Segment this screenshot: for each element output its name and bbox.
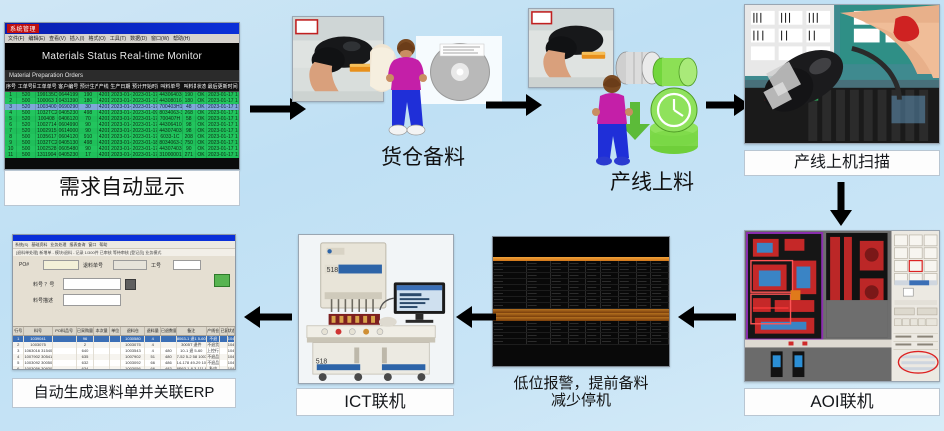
erp-column-header: 状态 bbox=[228, 327, 235, 335]
alert-table-cell: ——— bbox=[527, 321, 551, 326]
alert-table-cell: ——— bbox=[493, 285, 527, 290]
alert-table-body[interactable]: ————————————————————————————————————————… bbox=[493, 257, 669, 345]
erp-column-header: 料号 bbox=[24, 327, 52, 335]
worker-and-disc-art bbox=[370, 28, 502, 140]
alert-table-cell: ——— bbox=[551, 273, 569, 278]
alert-table-cell: ——— bbox=[527, 339, 551, 344]
caption-warehouse-prep: 货仓备料 bbox=[338, 140, 508, 176]
erp-menu-item[interactable]: 系统(S) bbox=[15, 242, 28, 248]
alert-table-cell: ——— bbox=[637, 291, 652, 296]
alert-table-cell: ——— bbox=[493, 339, 527, 344]
alert-table-cell: ——— bbox=[601, 279, 619, 284]
mes-menu-item[interactable]: 格式(O) bbox=[88, 35, 105, 42]
alert-table-cell: ——— bbox=[637, 267, 652, 272]
alert-table-cell: ——— bbox=[493, 267, 527, 272]
mes-monitor-panel[interactable]: 系统管理 文件(F) 编辑(E) 查看(V) 插入(I) 格式(O) 工具(T)… bbox=[4, 22, 240, 170]
mes-table-cell: 0405230M bbox=[58, 152, 79, 158]
alert-table-cell: ——— bbox=[619, 333, 637, 338]
alert-table-cell: ——— bbox=[569, 267, 587, 272]
erp-column-header: 单位 bbox=[110, 327, 121, 335]
alert-table-cell: ——— bbox=[527, 297, 551, 302]
alert-table-cell: ——— bbox=[601, 321, 619, 326]
alert-table-cell: ——— bbox=[651, 327, 669, 332]
caption-low-stock-alert: 低位报警，提前备料 减少停机 bbox=[486, 370, 676, 414]
alert-table-cell: ——— bbox=[637, 333, 652, 338]
erp-menu-item[interactable]: 基础资料 bbox=[31, 242, 47, 248]
alert-table-cell: ——— bbox=[551, 303, 569, 308]
alert-table-cell: ——— bbox=[586, 273, 601, 278]
mes-table-cell: 1311904 bbox=[36, 152, 57, 158]
alert-table-cell: ——— bbox=[527, 273, 551, 278]
erp-column-header: 备注 bbox=[177, 327, 207, 335]
aoi-station-photo bbox=[744, 230, 940, 382]
alert-table-cell: ——— bbox=[601, 333, 619, 338]
arrow-linescan-to-aoi bbox=[828, 182, 854, 226]
alert-table-cell: ——— bbox=[601, 273, 619, 278]
alert-table-cell: ——— bbox=[619, 327, 637, 332]
erp-table-cell bbox=[53, 366, 77, 370]
erp-field-row-partno[interactable]: 料号 ？号 bbox=[33, 278, 229, 290]
erp-table-cell: 6 bbox=[13, 366, 24, 370]
mes-menu-item[interactable]: 查看(V) bbox=[49, 35, 66, 42]
mes-table-cell: 310000012 bbox=[158, 152, 182, 158]
alert-table-cell: ——— bbox=[551, 327, 569, 332]
alert-table-cell: ——— bbox=[619, 285, 637, 290]
mes-menu-item[interactable]: 插入(I) bbox=[70, 35, 85, 42]
alert-table-cell: ——— bbox=[527, 333, 551, 338]
alert-table-cell: ——— bbox=[527, 267, 551, 272]
mes-table-cell: 17 bbox=[79, 152, 98, 158]
alert-table-cell: ——— bbox=[493, 333, 527, 338]
alert-table-cell: ——— bbox=[619, 297, 637, 302]
erp-field-label-docno: 退料单号 bbox=[83, 262, 109, 269]
mes-column-header: 工单号码 bbox=[17, 82, 36, 91]
alert-table-cell: ——— bbox=[493, 261, 527, 266]
alert-table-cell: ——— bbox=[637, 261, 652, 266]
operator-scanning-boards-photo bbox=[745, 5, 939, 143]
alert-table-cell: ——— bbox=[569, 333, 587, 338]
arrow-warehouse-to-linefeed bbox=[486, 94, 542, 116]
erp-table-body[interactable]: 1103904196103058048063-1 退1 5-60不退104312… bbox=[13, 336, 235, 370]
alert-table-cell: ——— bbox=[651, 285, 669, 290]
alert-table-cell: ——— bbox=[619, 261, 637, 266]
alert-table-cell: ——— bbox=[493, 297, 527, 302]
alert-table-cell: ——— bbox=[493, 321, 527, 326]
alert-table-cell: ——— bbox=[551, 339, 569, 344]
erp-field-label-po: PO# bbox=[19, 262, 39, 268]
mes-menu-item[interactable]: 数据(D) bbox=[130, 35, 147, 42]
alert-table-cell: ——— bbox=[619, 321, 637, 326]
erp-field-input-partno[interactable] bbox=[63, 278, 121, 290]
alert-table-cell: ——— bbox=[601, 285, 619, 290]
caption-line-feed: 产线上料 bbox=[566, 166, 738, 200]
mes-table-cell: 2023-01-17 20:00 bbox=[132, 152, 159, 158]
erp-menu-item[interactable]: 业务处理 bbox=[50, 242, 66, 248]
mes-table-body[interactable]: 1520199135C0644199190420142023-01-172023… bbox=[5, 92, 239, 158]
alert-table-cell: ——— bbox=[637, 327, 652, 332]
alert-table-cell: ——— bbox=[493, 327, 527, 332]
alert-table-cell: ——— bbox=[637, 297, 652, 302]
alert-table-cell: ——— bbox=[651, 333, 669, 338]
mes-table-cell: 271 bbox=[183, 152, 197, 158]
erp-table-cell: 8P63 1-8 3-111 98 5-60 bbox=[177, 366, 207, 370]
mes-column-header: 预计生产量 bbox=[79, 82, 98, 91]
alert-table-cell: ——— bbox=[619, 339, 637, 344]
erp-column-header: 行号 bbox=[13, 327, 24, 335]
erp-menubar[interactable]: 系统(S) 基础资料 业务处理 报表查询 窗口 帮助 bbox=[13, 241, 235, 249]
alert-table-cell: ——— bbox=[493, 291, 527, 296]
mes-table-cell: OK bbox=[196, 152, 207, 158]
mes-column-header: 生产日期 bbox=[109, 82, 131, 91]
alert-table-cell: ——— bbox=[601, 267, 619, 272]
alert-table-cell: ——— bbox=[586, 297, 601, 302]
erp-field-label-partno: 料号 ？号 bbox=[33, 281, 59, 288]
alert-table-cell: ——— bbox=[569, 285, 587, 290]
alert-table-cell: ——— bbox=[551, 297, 569, 302]
erp-table-cell: 1003056 3093096 bbox=[24, 366, 52, 370]
mes-menubar[interactable]: 文件(F) 编辑(E) 查看(V) 插入(I) 格式(O) 工具(T) 数据(D… bbox=[5, 34, 239, 43]
alert-table-cell: ——— bbox=[527, 327, 551, 332]
mes-table-cell: 2023-01-17 11:50:14 bbox=[207, 152, 239, 158]
mes-column-header: 叫料单号 bbox=[158, 82, 182, 91]
mes-column-header: 叫料数 bbox=[183, 82, 196, 91]
caption-aoi-online: AOI联机 bbox=[744, 388, 940, 416]
alert-table-cell: ——— bbox=[527, 261, 551, 266]
erp-field-label-empno: 工号 bbox=[151, 262, 169, 269]
erp-column-header: 已采购量 bbox=[77, 327, 95, 335]
line-scan-photo bbox=[744, 4, 940, 144]
alert-table-cell: ——— bbox=[527, 291, 551, 296]
arrow-alert-to-ict bbox=[456, 306, 496, 328]
mes-table-cell: 2023-01-08 bbox=[110, 152, 131, 158]
alert-table-cell: ——— bbox=[527, 303, 551, 308]
alert-table-cell: ——— bbox=[569, 291, 587, 296]
alert-table-row[interactable]: ——————————————————————————— bbox=[493, 339, 669, 345]
mes-column-header: 客户编号 bbox=[57, 82, 79, 91]
mes-window-badge: 系统管理 bbox=[7, 24, 39, 33]
alert-table-cell: ——— bbox=[527, 279, 551, 284]
caption-erp-return: 自动生成退料单并关联ERP bbox=[12, 378, 236, 408]
erp-return-order-panel[interactable]: 系统(S) 基础资料 业务处理 报表查询 窗口 帮助 [退料单处理] 新增单 -… bbox=[12, 234, 236, 370]
alert-table-cell: ——— bbox=[637, 273, 652, 278]
mes-menu-item[interactable]: 帮助(H) bbox=[173, 35, 190, 42]
arrow-aoi-to-alert bbox=[678, 306, 736, 328]
erp-lookup-button[interactable] bbox=[125, 279, 136, 290]
mes-table-header: 序号工单号码工单单号客户编号预计生产量产线生产日期预计开始时间叫料单号叫料数状态… bbox=[5, 82, 239, 92]
svg-text:518: 518 bbox=[316, 358, 328, 365]
erp-field-input-po[interactable] bbox=[43, 260, 79, 270]
erp-table-cell: 1003056 bbox=[121, 366, 145, 370]
erp-column-header: 退料仓 bbox=[121, 327, 145, 335]
alert-table-cell: ——— bbox=[586, 285, 601, 290]
alert-table-cell: ——— bbox=[551, 267, 569, 272]
alert-table-cell: ——— bbox=[527, 285, 551, 290]
alert-table-cell: ——— bbox=[651, 321, 669, 326]
erp-field-input-desc[interactable] bbox=[63, 294, 121, 306]
alert-table-cell: ——— bbox=[651, 279, 669, 284]
alert-table-cell: ——— bbox=[601, 261, 619, 266]
alert-table-cell: ——— bbox=[493, 273, 527, 278]
alert-table-cell: ——— bbox=[651, 273, 669, 278]
warehouse-worker-illustration bbox=[370, 28, 502, 140]
alert-table-cell: ——— bbox=[637, 303, 652, 308]
alert-table-cell: ——— bbox=[569, 273, 587, 278]
mes-column-header: 预计开始时间 bbox=[131, 82, 158, 91]
erp-table-row[interactable]: 61003056 30930966341003056664838P63 1-8 … bbox=[13, 366, 235, 370]
erp-table-cell: 私内 bbox=[207, 366, 221, 370]
erp-column-header: 已复核量 bbox=[220, 327, 227, 335]
alert-table-cell: ——— bbox=[619, 303, 637, 308]
alert-table-cell: ——— bbox=[651, 261, 669, 266]
erp-menu-item[interactable]: 帮助 bbox=[99, 242, 107, 248]
mes-table-cell: 500 bbox=[17, 152, 36, 158]
erp-table-cell: 66 bbox=[145, 366, 161, 370]
alert-table-cell: ——— bbox=[619, 291, 637, 296]
alert-table-cell: ——— bbox=[493, 279, 527, 284]
alert-table-cell: ——— bbox=[651, 303, 669, 308]
alert-table-cell: ——— bbox=[586, 327, 601, 332]
erp-table-header: 行号料号PO料品号已采购量本次量单位退料仓退料量已退数量备注产线仓已复核量状态 bbox=[13, 326, 235, 336]
erp-column-header: 产线仓 bbox=[207, 327, 221, 335]
alert-table-cell: ——— bbox=[569, 327, 587, 332]
alert-table-cell: ——— bbox=[569, 261, 587, 266]
alert-table-cell: ——— bbox=[586, 291, 601, 296]
alert-table-cell: ——— bbox=[601, 339, 619, 344]
alert-table-cell: ——— bbox=[586, 267, 601, 272]
alert-table-cell: ——— bbox=[569, 297, 587, 302]
mes-window-titlebar: 系统管理 bbox=[5, 23, 239, 34]
mes-column-header: 产线 bbox=[98, 82, 110, 91]
alert-table-cell: ——— bbox=[637, 339, 652, 344]
alert-table-cell: ——— bbox=[551, 279, 569, 284]
erp-menu-item[interactable]: 报表查询 bbox=[69, 242, 85, 248]
erp-table-cell bbox=[220, 366, 227, 370]
erp-column-header: 本次量 bbox=[94, 327, 110, 335]
mes-column-header: 序号 bbox=[5, 82, 17, 91]
alert-table-cell: ——— bbox=[551, 285, 569, 290]
alert-table-cell: ——— bbox=[637, 279, 652, 284]
erp-field-row-desc[interactable]: 料号描述 bbox=[33, 294, 229, 306]
mes-menu-item[interactable]: 编辑(E) bbox=[28, 35, 45, 42]
mes-table-cell: 42017 bbox=[98, 152, 110, 158]
erp-field-row-top[interactable]: PO# 退料单号 工号 bbox=[19, 260, 229, 270]
erp-table-cell: 10431 bbox=[228, 366, 235, 370]
database-clock-worker-art bbox=[586, 50, 704, 166]
mes-title: Materials Status Real-time Monitor bbox=[5, 43, 239, 70]
alert-table-cell: ——— bbox=[586, 261, 601, 266]
alert-table-cell: ——— bbox=[551, 261, 569, 266]
mes-menu-item[interactable]: 文件(F) bbox=[8, 35, 24, 42]
low-stock-alert-panel[interactable]: ————————————————————————————————————————… bbox=[492, 236, 670, 367]
line-feed-illustration bbox=[586, 50, 704, 166]
erp-form-area[interactable]: PO# 退料单号 工号 料号 ？号 料号描述 bbox=[13, 256, 235, 326]
aoi-inspection-screen bbox=[745, 231, 939, 381]
alert-table-cell: ——— bbox=[551, 321, 569, 326]
arrow-ict-to-erp bbox=[244, 306, 292, 328]
alert-table-cell: ——— bbox=[586, 321, 601, 326]
erp-menu-item[interactable]: 窗口 bbox=[88, 242, 96, 248]
alert-table-cell: ——— bbox=[601, 291, 619, 296]
mes-menu-item[interactable]: 窗口(W) bbox=[151, 35, 169, 42]
alert-table-cell: ——— bbox=[637, 285, 652, 290]
erp-breadcrumb: [退料单处理] 新增单 - 模块/退料 - 记录 1/300件 已审核 等待审核… bbox=[13, 249, 235, 256]
erp-field-input-empno[interactable] bbox=[173, 260, 201, 270]
flow-diagram: 系统管理 文件(F) 编辑(E) 查看(V) 插入(I) 格式(O) 工具(T)… bbox=[0, 0, 944, 431]
alert-table-cell: ——— bbox=[619, 279, 637, 284]
alert-table-cell: ——— bbox=[601, 303, 619, 308]
erp-column-header: PO料品号 bbox=[53, 327, 77, 335]
alert-table-cell: ——— bbox=[551, 291, 569, 296]
alert-table-cell: ——— bbox=[586, 279, 601, 284]
mes-menu-item[interactable]: 工具(T) bbox=[110, 35, 126, 42]
alert-table-titlebar bbox=[493, 237, 669, 257]
alert-table-cell: ——— bbox=[619, 267, 637, 272]
erp-table-cell bbox=[94, 366, 110, 370]
erp-export-button[interactable] bbox=[214, 274, 230, 287]
mes-column-header: 工单单号 bbox=[36, 82, 58, 91]
alert-table-cell: ——— bbox=[569, 303, 587, 308]
alert-table-cell: ——— bbox=[651, 339, 669, 344]
alert-table-cell: ——— bbox=[586, 339, 601, 344]
alert-table-cell: ——— bbox=[651, 297, 669, 302]
alert-table-cell: ——— bbox=[601, 327, 619, 332]
ict-machine-photo: 518 bbox=[298, 234, 454, 384]
alert-table-cell: ——— bbox=[586, 333, 601, 338]
caption-line-scan: 产线上机扫描 bbox=[744, 150, 940, 176]
alert-table-cell: ——— bbox=[586, 303, 601, 308]
alert-table-cell: ——— bbox=[569, 279, 587, 284]
erp-table-cell: 483 bbox=[161, 366, 177, 370]
mes-column-header: 最后更新时间 bbox=[206, 82, 239, 91]
erp-table-cell: 634 bbox=[77, 366, 95, 370]
mes-section-title: Material Preparation Orders bbox=[5, 70, 239, 82]
erp-field-input-docno[interactable] bbox=[113, 260, 147, 270]
alert-table-cell: ——— bbox=[551, 333, 569, 338]
caption-ict-online: ICT联机 bbox=[296, 388, 454, 416]
mes-column-header: 状态 bbox=[196, 82, 206, 91]
alert-table-cell: ——— bbox=[619, 273, 637, 278]
alert-table-cell: ——— bbox=[651, 267, 669, 272]
erp-column-header: 退料量 bbox=[145, 327, 161, 335]
alert-table-cell: ——— bbox=[601, 297, 619, 302]
erp-field-label-desc: 料号描述 bbox=[33, 297, 59, 304]
erp-table-cell bbox=[110, 366, 121, 370]
erp-column-header: 已退数量 bbox=[161, 327, 177, 335]
svg-text:518: 518 bbox=[327, 267, 339, 274]
mes-table-cell: 11 bbox=[5, 152, 17, 158]
alert-table-cell: ——— bbox=[569, 339, 587, 344]
alert-table-cell: ——— bbox=[651, 291, 669, 296]
caption-demand-display: 需求自动显示 bbox=[4, 170, 240, 206]
alert-table-cell: ——— bbox=[493, 303, 527, 308]
ict-tester-illustration: 518 bbox=[299, 235, 453, 383]
alert-table-cell: ——— bbox=[637, 321, 652, 326]
alert-table-cell: ——— bbox=[569, 321, 587, 326]
mes-table-row[interactable]: 1150013119040405230M17420172023-01-08202… bbox=[5, 152, 239, 158]
